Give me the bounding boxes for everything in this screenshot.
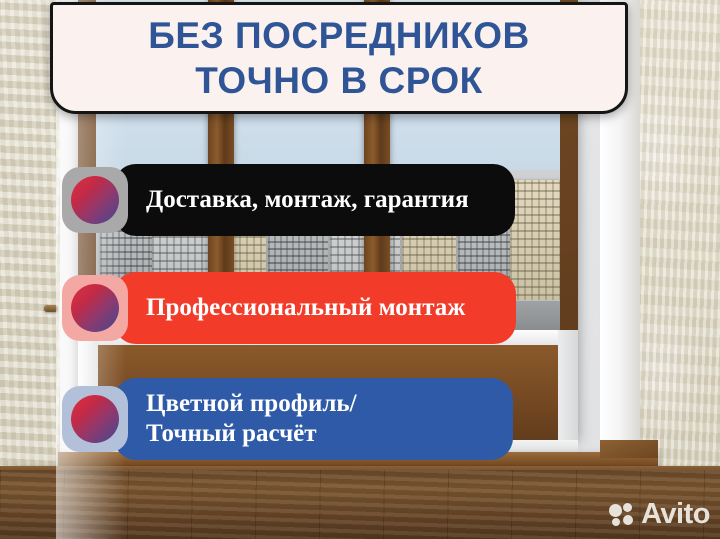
headline-line-2: ТОЧНО В СРОК (195, 58, 483, 103)
gradient-circle-icon (71, 176, 119, 224)
badge-icon-backdrop (62, 275, 128, 341)
avito-wordmark: Avito (641, 500, 710, 529)
badge-icon-backdrop (62, 167, 128, 233)
gradient-circle-icon (71, 395, 119, 443)
badge-label-line-1: Профессиональный монтаж (146, 293, 490, 323)
feature-badge-colored-profile: Цветной профиль/ Точный расчёт (62, 378, 513, 460)
building (510, 180, 560, 320)
feature-badge-professional-installation: Профессиональный монтаж (62, 272, 516, 344)
badge-pill: Доставка, монтаж, гарантия (114, 164, 515, 236)
window-sill-right (600, 440, 658, 458)
badge-label-line-2: Точный расчёт (146, 419, 487, 449)
gradient-circle-icon (71, 284, 119, 332)
feature-badge-delivery: Доставка, монтаж, гарантия (62, 164, 515, 236)
window-sash-right (558, 330, 578, 458)
avito-watermark: Avito (609, 500, 710, 529)
badge-label-line-1: Доставка, монтаж, гарантия (146, 185, 489, 215)
headline-card: БЕЗ ПОСРЕДНИКОВ ТОЧНО В СРОК (50, 2, 628, 114)
headline-line-1: БЕЗ ПОСРЕДНИКОВ (148, 13, 529, 58)
wallpaper-left-strip (0, 0, 56, 497)
badge-label-line-1: Цветной профиль/ (146, 389, 487, 419)
badge-pill: Профессиональный монтаж (114, 272, 516, 344)
door-handle (44, 305, 58, 312)
badge-icon-backdrop (62, 386, 128, 452)
badge-pill: Цветной профиль/ Точный расчёт (114, 378, 513, 460)
advertisement-poster: БЕЗ ПОСРЕДНИКОВ ТОЧНО В СРОК Доставка, м… (0, 0, 720, 539)
avito-logo-icon (609, 503, 635, 527)
